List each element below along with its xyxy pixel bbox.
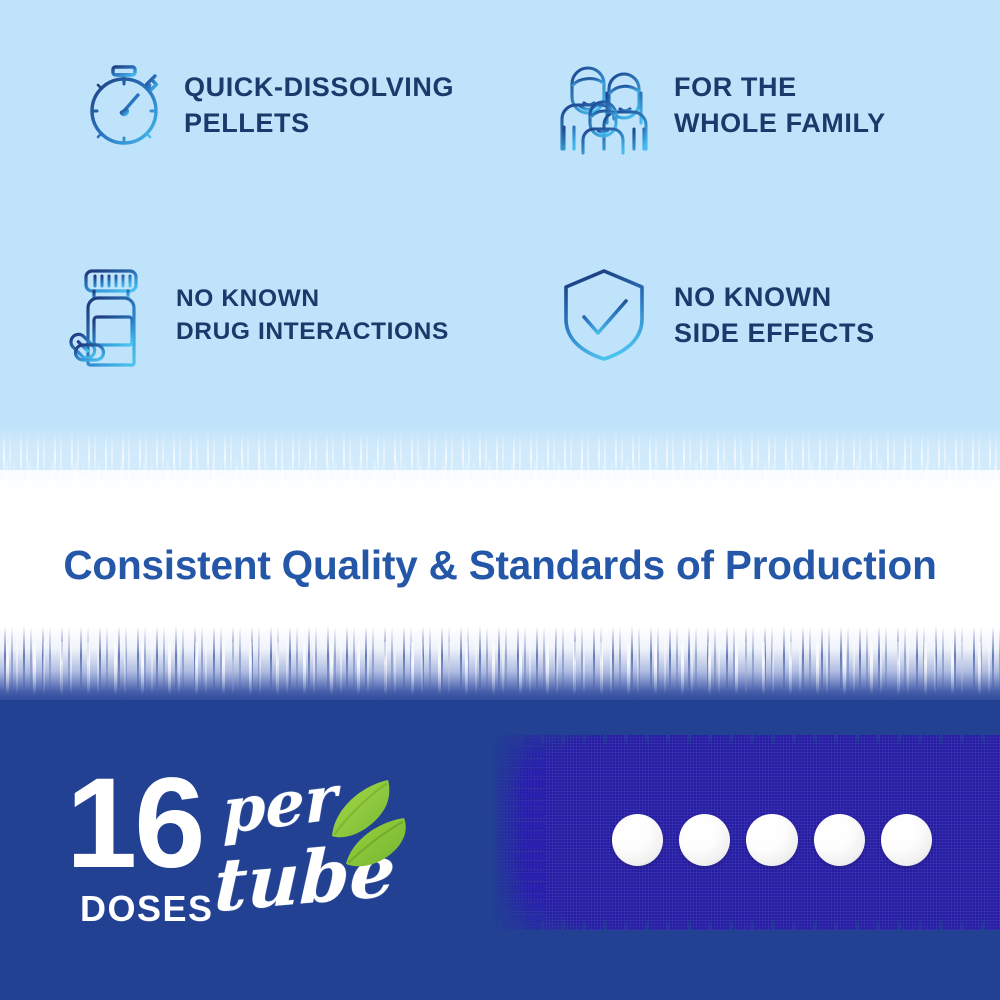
feature-label-line1: NO KNOWN bbox=[176, 285, 320, 312]
family-icon bbox=[552, 53, 656, 157]
feature-label-line1: NO KNOWN bbox=[674, 282, 832, 312]
shield-check-icon bbox=[552, 263, 656, 367]
pellet-row bbox=[612, 805, 932, 875]
dose-count: 16 bbox=[66, 760, 202, 888]
headline-band: Consistent Quality & Standards of Produc… bbox=[0, 500, 1000, 630]
feature-no-side-effects: NO KNOWN SIDE EFFECTS bbox=[530, 210, 1000, 420]
features-band: QUICK-DISSOLVING PELLETS bbox=[0, 0, 1000, 470]
pellet bbox=[814, 814, 865, 866]
script-per: per bbox=[222, 767, 338, 843]
feature-label: NO KNOWN DRUG INTERACTIONS bbox=[176, 282, 449, 348]
pellet bbox=[612, 814, 663, 866]
feature-label-line1: QUICK-DISSOLVING bbox=[184, 72, 454, 102]
pill-bottle-icon bbox=[62, 267, 158, 363]
feature-label-line2: DRUG INTERACTIONS bbox=[176, 315, 449, 348]
mint-leaf-icon bbox=[326, 776, 412, 886]
pellet bbox=[679, 814, 730, 866]
feature-label-line1: FOR THE bbox=[674, 72, 797, 102]
feature-label: FOR THE WHOLE FAMILY bbox=[674, 69, 886, 142]
pellet bbox=[881, 814, 932, 866]
product-infographic: QUICK-DISSOLVING PELLETS bbox=[0, 0, 1000, 1000]
pellet bbox=[746, 814, 797, 866]
feature-label: NO KNOWN SIDE EFFECTS bbox=[674, 279, 875, 352]
feature-label-line2: WHOLE FAMILY bbox=[674, 105, 886, 141]
feature-whole-family: FOR THE WHOLE FAMILY bbox=[530, 0, 1000, 210]
feature-label: QUICK-DISSOLVING PELLETS bbox=[184, 69, 454, 142]
page-title: Consistent Quality & Standards of Produc… bbox=[63, 542, 936, 589]
feature-label-line2: SIDE EFFECTS bbox=[674, 315, 875, 351]
feature-quick-dissolving-pellets: QUICK-DISSOLVING PELLETS bbox=[0, 0, 530, 210]
feature-grid: QUICK-DISSOLVING PELLETS bbox=[0, 0, 1000, 420]
feature-label-line2: PELLETS bbox=[184, 105, 454, 141]
stopwatch-icon bbox=[62, 53, 166, 157]
dose-unit-label: DOSES bbox=[80, 888, 214, 930]
feature-no-drug-interactions: NO KNOWN DRUG INTERACTIONS bbox=[0, 210, 530, 420]
